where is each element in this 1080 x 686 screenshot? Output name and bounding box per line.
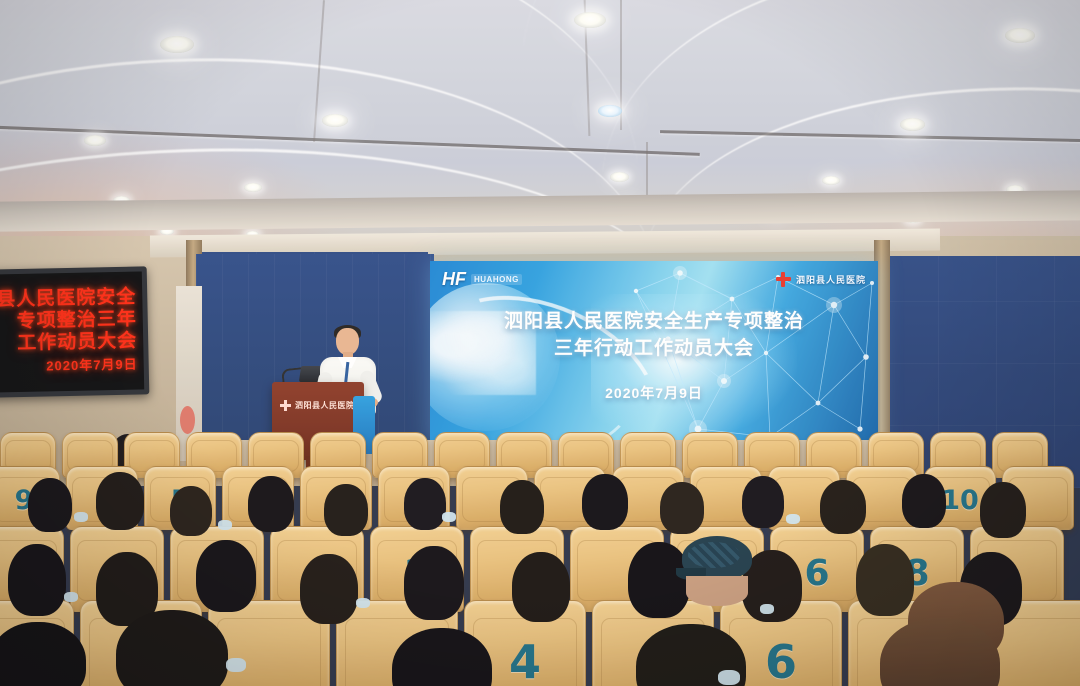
presenter-head [336, 328, 359, 355]
red-object [180, 406, 195, 434]
led-banner-date: 2020年7月9日 [0, 358, 144, 375]
ceiling-downlight [822, 176, 840, 185]
audience-head [116, 610, 228, 686]
ceiling-downlight [322, 114, 348, 127]
audience-head [300, 554, 358, 624]
auditorium-seating: 9531101268246 [0, 432, 1080, 686]
main-led-screen: HF HUAHONG 泗阳县人民医院 泗阳县人民医院安全生产专项整治 三年行动工… [430, 261, 878, 447]
ceiling-downlight [160, 36, 194, 53]
face-mask [442, 512, 456, 522]
face-mask [226, 658, 246, 672]
podium-logo: 泗阳县人民医院 [280, 400, 355, 411]
face-mask [218, 520, 232, 530]
ceiling-downlight [574, 12, 606, 28]
led-banner-line-2: 专项整治三年 [0, 310, 143, 333]
ceiling-downlight [1005, 28, 1035, 43]
audience-head [170, 486, 212, 536]
podium-logo-text: 泗阳县人民医院 [295, 400, 355, 411]
led-banner-line-1: 县人民医院安全 [0, 288, 143, 311]
ceiling-seam [646, 142, 648, 202]
audience-head [980, 482, 1026, 538]
screen-title: 泗阳县人民医院安全生产专项整治 三年行动工作动员大会 [430, 309, 878, 363]
ceiling-downlight [84, 135, 106, 146]
face-mask [74, 512, 88, 522]
ceiling [0, 0, 1080, 262]
audience-head [324, 484, 368, 536]
audience-head [28, 478, 72, 532]
screen-header: HF HUAHONG 泗阳县人民医院 [430, 266, 878, 292]
audience-with-cap [676, 536, 758, 602]
face-mask [64, 592, 78, 602]
audience-head [196, 540, 256, 612]
screen-title-line-2: 三年行动工作动员大会 [430, 336, 878, 363]
audience-head [742, 476, 784, 528]
face-mask [786, 514, 800, 524]
hospital-logo: 泗阳县人民医院 [776, 272, 866, 287]
screen-title-line-1: 泗阳县人民医院安全生产专项整治 [430, 309, 878, 336]
audience-head [856, 544, 914, 616]
face-mask [356, 598, 370, 608]
face-mask [718, 670, 740, 685]
audience-head [660, 482, 704, 534]
red-cross-icon [776, 272, 791, 287]
ceiling-downlight [244, 183, 262, 192]
face-mask [760, 604, 774, 614]
audience-head [512, 552, 570, 622]
screen-date: 2020年7月9日 [430, 383, 878, 403]
ceiling-downlight [610, 172, 629, 182]
conference-hall-photo: 县人民医院安全 专项整治三年 工作动员大会 2020年7月9日 [0, 0, 1080, 686]
audience-head [404, 546, 464, 620]
hf-logo-mark: HF [442, 270, 466, 288]
audience-head [96, 472, 144, 530]
ceiling-downlight [900, 118, 925, 131]
led-banner: 县人民医院安全 专项整治三年 工作动员大会 2020年7月9日 [0, 266, 149, 397]
audience-head [404, 478, 446, 530]
red-cross-icon [280, 400, 291, 411]
hf-logo-wordmark: HUAHONG [471, 274, 522, 285]
audience-head [8, 544, 66, 616]
sponsor-logo: HF HUAHONG [442, 270, 522, 288]
audience-head [500, 480, 544, 534]
audience-head [820, 480, 866, 534]
audience-head [248, 476, 294, 532]
led-banner-line-3: 工作动员大会 [0, 332, 143, 355]
audience-head [902, 474, 946, 528]
ceiling-downlight [598, 105, 622, 117]
hospital-logo-text: 泗阳县人民医院 [796, 273, 866, 286]
audience-head [582, 474, 628, 530]
